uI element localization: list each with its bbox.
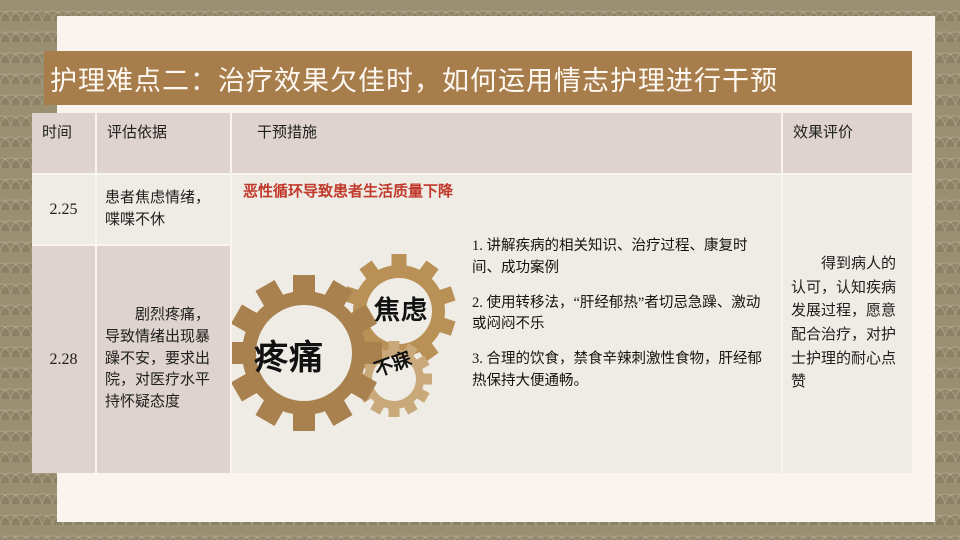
table-row: 患者焦虑情绪，喋喋不休 <box>97 175 232 246</box>
table-header-basis: 评估依据 <box>97 113 232 175</box>
cell-evaluation: 得到病人的认可，认知疾病发展过程，愿意配合治疗，对护士护理的耐心点赞 <box>783 253 912 395</box>
table-row: 2.25 <box>32 175 97 246</box>
measures-list: 1. 讲解疾病的相关知识、治疗过程、康复时间、成功案例 2. 使用转移法，“肝经… <box>472 236 768 406</box>
table-row: 2.28 <box>32 246 97 473</box>
cell-time-1: 2.25 <box>50 201 78 219</box>
warning-note: 恶性循环导致患者生活质量下降 <box>243 180 453 201</box>
table-header-time: 时间 <box>32 113 97 175</box>
gear-diagram: 疼痛 焦虑 不寐 <box>232 240 472 452</box>
slide-root: 护理难点二：治疗效果欠佳时，如何运用情志护理进行干预 时间 评估依据 干预措施 … <box>0 0 960 540</box>
cell-basis-1: 患者焦虑情绪，喋喋不休 <box>97 188 230 232</box>
table-header-measures: 干预措施 <box>232 113 783 175</box>
gear-label-pain: 疼痛 <box>254 330 324 379</box>
cell-time-2: 2.28 <box>50 351 78 369</box>
slide-title-bar: 护理难点二：治疗效果欠佳时，如何运用情志护理进行干预 <box>44 51 912 105</box>
cell-evaluation-wrapper: 得到病人的认可，认知疾病发展过程，愿意配合治疗，对护士护理的耐心点赞 <box>783 175 912 473</box>
table-row: 剧烈疼痛，导致情绪出现暴躁不安，要求出院，对医疗水平持怀疑态度 <box>97 246 232 473</box>
measure-item-3: 3. 合理的饮食，禁食辛辣刺激性食物，肝经郁热保持大便通畅。 <box>472 349 768 393</box>
gear-label-anxiety: 焦虑 <box>374 290 428 327</box>
table-header-evaluation: 效果评价 <box>783 113 912 175</box>
cell-basis-2: 剧烈疼痛，导致情绪出现暴躁不安，要求出院，对医疗水平持怀疑态度 <box>97 305 230 414</box>
measure-item-2: 2. 使用转移法，“肝经郁热”者切忌急躁、激动或闷闷不乐 <box>472 293 768 337</box>
page-title: 护理难点二：治疗效果欠佳时，如何运用情志护理进行干预 <box>44 59 778 98</box>
measure-item-1: 1. 讲解疾病的相关知识、治疗过程、康复时间、成功案例 <box>472 236 768 280</box>
